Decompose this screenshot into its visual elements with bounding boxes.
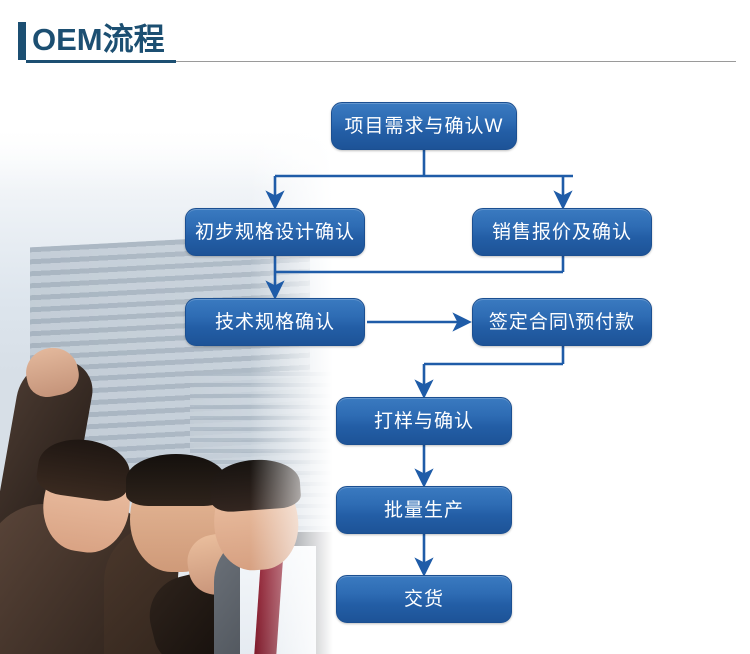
title-underline-light — [176, 61, 736, 62]
page-title: OEM流程 — [32, 20, 165, 60]
flow-node-tech-spec[interactable]: 技术规格确认 — [185, 298, 365, 346]
title-accent-bar — [18, 22, 26, 60]
flow-node-sample[interactable]: 打样与确认 — [336, 397, 512, 445]
photo-fade-top — [0, 72, 340, 192]
flow-node-requirement[interactable]: 项目需求与确认W — [331, 102, 517, 150]
oem-process-page: OEM流程 — [0, 0, 750, 654]
background-photo — [0, 72, 340, 654]
flow-node-contract[interactable]: 签定合同\预付款 — [472, 298, 652, 346]
flow-node-quote[interactable]: 销售报价及确认 — [472, 208, 652, 256]
page-header: OEM流程 — [0, 0, 750, 72]
flow-node-mass-production[interactable]: 批量生产 — [336, 486, 512, 534]
flow-node-spec-design[interactable]: 初步规格设计确认 — [185, 208, 365, 256]
flow-node-delivery[interactable]: 交货 — [336, 575, 512, 623]
title-underline-dark — [26, 60, 176, 63]
